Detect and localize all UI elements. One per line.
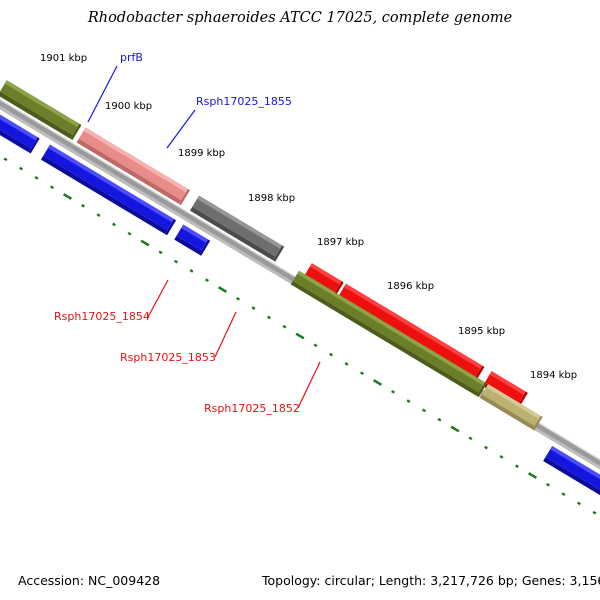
gene-label-Rsph17025_1852[interactable]: Rsph17025_1852 xyxy=(204,402,300,415)
scale-tick-minor xyxy=(500,456,503,458)
scale-tick-minor xyxy=(206,279,209,281)
scale-tick-minor xyxy=(345,363,348,365)
genome-stats-text: Topology: circular; Length: 3,217,726 bp… xyxy=(261,573,600,588)
genome-map-canvas[interactable]: Rhodobacter sphaeroides ATCC 17025, comp… xyxy=(0,0,600,600)
scale-label-1898: 1898 kbp xyxy=(248,193,295,204)
scale-tick-minor xyxy=(35,177,38,179)
scale-tick-minor xyxy=(283,326,286,328)
scale-tick-minor xyxy=(578,503,581,505)
scale-tick-minor xyxy=(469,437,472,439)
scale-tick-minor xyxy=(438,419,441,421)
canvas-background xyxy=(0,0,600,600)
scale-label-1896: 1896 kbp xyxy=(387,281,434,292)
gene-label-Rsph17025_1855[interactable]: Rsph17025_1855 xyxy=(196,95,292,108)
accession-text: Accession: NC_009428 xyxy=(18,573,160,588)
gene-label-Rsph17025_1853[interactable]: Rsph17025_1853 xyxy=(120,351,216,364)
scale-tick-minor xyxy=(547,484,550,486)
scale-tick-minor xyxy=(113,224,116,226)
scale-label-1895: 1895 kbp xyxy=(458,326,505,337)
scale-tick-minor xyxy=(516,465,519,467)
scale-tick-minor xyxy=(175,261,178,263)
scale-tick-minor xyxy=(314,344,317,346)
scale-tick-minor xyxy=(128,233,131,235)
scale-label-1894: 1894 kbp xyxy=(530,370,577,381)
scale-tick-minor xyxy=(268,317,271,319)
scale-label-1901: 1901 kbp xyxy=(40,53,87,64)
scale-tick-minor xyxy=(4,158,7,160)
scale-tick-minor xyxy=(485,447,488,449)
scale-tick-minor xyxy=(252,307,255,309)
scale-label-1897: 1897 kbp xyxy=(317,237,364,248)
scale-tick-minor xyxy=(82,205,85,207)
scale-tick-minor xyxy=(392,391,395,393)
scale-label-1900: 1900 kbp xyxy=(105,101,152,112)
scale-tick-minor xyxy=(237,298,240,300)
scale-tick-minor xyxy=(159,251,162,253)
scale-tick-minor xyxy=(51,186,54,188)
scale-tick-minor xyxy=(97,214,100,216)
gene-label-Rsph17025_1854[interactable]: Rsph17025_1854 xyxy=(54,310,150,323)
scale-tick-minor xyxy=(190,270,193,272)
page-title: Rhodobacter sphaeroides ATCC 17025, comp… xyxy=(87,10,512,26)
gene-label-prfB[interactable]: prfB xyxy=(120,51,143,64)
genome-viewer: Rhodobacter sphaeroides ATCC 17025, comp… xyxy=(0,0,600,600)
scale-tick-minor xyxy=(330,354,333,356)
scale-tick-minor xyxy=(407,400,410,402)
scale-tick-minor xyxy=(593,512,596,514)
scale-label-1899: 1899 kbp xyxy=(178,148,225,159)
scale-tick-minor xyxy=(361,372,364,374)
scale-tick-minor xyxy=(20,168,23,170)
scale-tick-minor xyxy=(423,410,426,412)
scale-tick-minor xyxy=(562,493,565,495)
